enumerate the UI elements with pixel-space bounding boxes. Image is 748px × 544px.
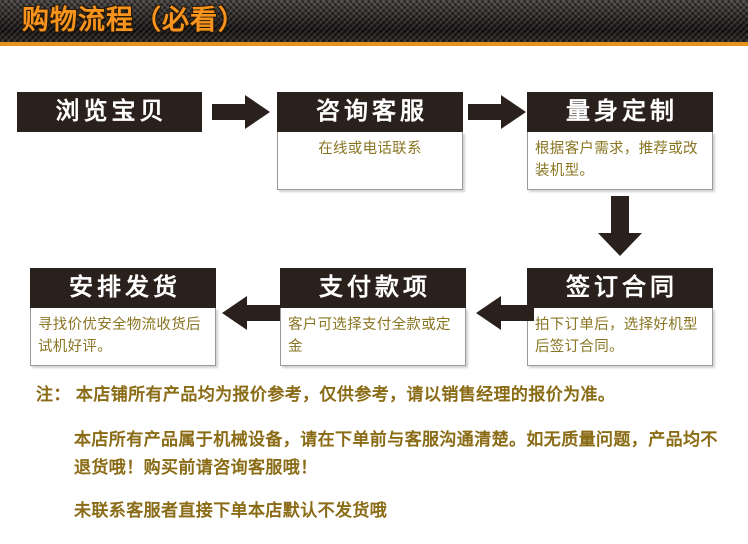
- flow-step-contract-description: 拍下订单后，选择好机型后签订合同。: [527, 308, 713, 366]
- note-return-policy: 本店所有产品属于机械设备，请在下单前与客服沟通清楚。如无质量问题，产品均不退货哦…: [74, 426, 724, 482]
- arrow-right-icon: [212, 95, 270, 129]
- flow-step-ship-title: 安排发货: [30, 268, 216, 308]
- flow-step-consult-description: 在线或电话联系: [277, 132, 463, 190]
- flow-step-consult[interactable]: 咨询客服 在线或电话联系: [277, 92, 463, 190]
- arrow-left-icon: [476, 296, 534, 330]
- flow-step-pay-title: 支付款项: [280, 268, 466, 308]
- flow-step-pay-description: 客户可选择支付全款或定金: [280, 308, 466, 366]
- flow-step-browse[interactable]: 浏览宝贝: [17, 92, 202, 132]
- flow-step-custom[interactable]: 量身定制 根据客户需求，推荐或改装机型。: [527, 92, 713, 190]
- flow-step-pay[interactable]: 支付款项 客户可选择支付全款或定金: [280, 268, 466, 366]
- flow-step-consult-title: 咨询客服: [277, 92, 463, 132]
- note-contact-required: 未联系客服者直接下单本店默认不发货哦: [74, 498, 748, 524]
- arrow-left-icon: [222, 296, 280, 330]
- note-price-disclaimer: 注： 本店铺所有产品均为报价参考，仅供参考，请以销售经理的报价为准。: [36, 382, 748, 408]
- flow-step-contract[interactable]: 签订合同 拍下订单后，选择好机型后签订合同。: [527, 268, 713, 366]
- flow-step-custom-title: 量身定制: [527, 92, 713, 132]
- arrow-right-icon: [468, 95, 526, 129]
- flow-step-ship[interactable]: 安排发货 寻找价优安全物流收货后试机好评。: [30, 268, 216, 366]
- flow-step-ship-description: 寻找价优安全物流收货后试机好评。: [30, 308, 216, 366]
- notes-section: 注： 本店铺所有产品均为报价参考，仅供参考，请以销售经理的报价为准。 本店所有产…: [0, 382, 748, 524]
- flow-step-contract-title: 签订合同: [527, 268, 713, 308]
- flow-step-browse-title: 浏览宝贝: [17, 92, 202, 132]
- flow-step-custom-description: 根据客户需求，推荐或改装机型。: [527, 132, 713, 190]
- arrow-down-icon: [598, 196, 642, 256]
